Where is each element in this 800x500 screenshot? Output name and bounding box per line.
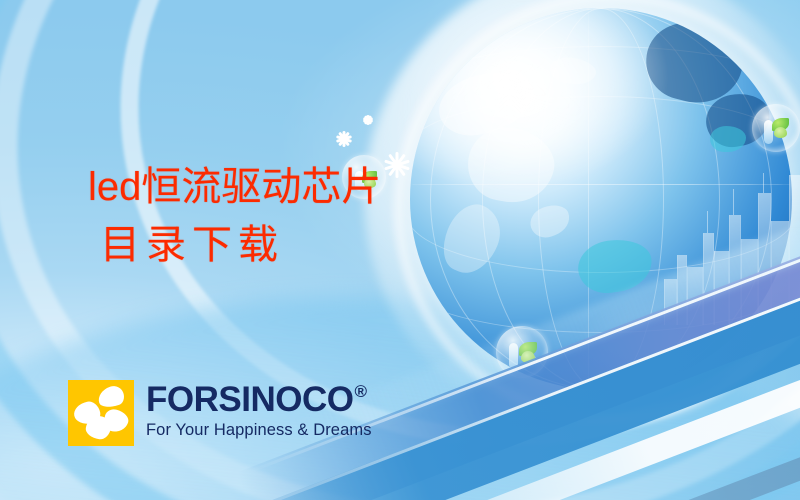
brand-logo: FORSINOCO ® For Your Happiness & Dreams xyxy=(68,380,372,446)
skyline-building xyxy=(741,239,758,325)
headline-line-2: 目录下载 xyxy=(100,224,381,266)
skyline-building xyxy=(789,175,800,325)
brand-wordmark: FORSINOCO ® xyxy=(146,382,372,417)
bubble-stem xyxy=(509,343,518,369)
skyline-building xyxy=(714,251,729,325)
logo-text-block: FORSINOCO ® For Your Happiness & Dreams xyxy=(146,380,372,440)
bubble-right-edge xyxy=(752,104,800,152)
headline-line-1: led恒流驱动芯片 xyxy=(88,166,381,208)
skyline-building xyxy=(687,267,703,325)
starburst-flower-2 xyxy=(335,130,352,147)
starburst-flower-1 xyxy=(384,152,410,178)
skyline-spire xyxy=(763,173,764,193)
starburst-flower-3 xyxy=(362,114,373,125)
pinwheel-petal-top xyxy=(96,383,127,410)
brand-name: FORSINOCO xyxy=(146,382,353,417)
bubble-leaf xyxy=(521,351,535,363)
skyline-building xyxy=(703,233,714,325)
brand-tagline: For Your Happiness & Dreams xyxy=(146,421,372,440)
skyline-building xyxy=(677,255,687,325)
skyline-building xyxy=(664,279,677,325)
skyline-building xyxy=(729,215,741,325)
promo-banner: led恒流驱动芯片 目录下载 FORSINOCO ® For Your Happ… xyxy=(0,0,800,500)
skyline-spire xyxy=(707,211,708,233)
headline-text: led恒流驱动芯片 目录下载 xyxy=(88,166,381,266)
bubble-leaf xyxy=(774,127,787,138)
registered-trademark-icon: ® xyxy=(354,383,366,400)
bubble-sprout-lower xyxy=(496,326,548,378)
skyline-spire xyxy=(733,189,734,215)
skyline-building xyxy=(771,221,789,325)
forsinoco-pinwheel-icon xyxy=(68,380,134,446)
skyline-silhouette xyxy=(660,150,800,325)
skyline-building xyxy=(758,193,771,325)
